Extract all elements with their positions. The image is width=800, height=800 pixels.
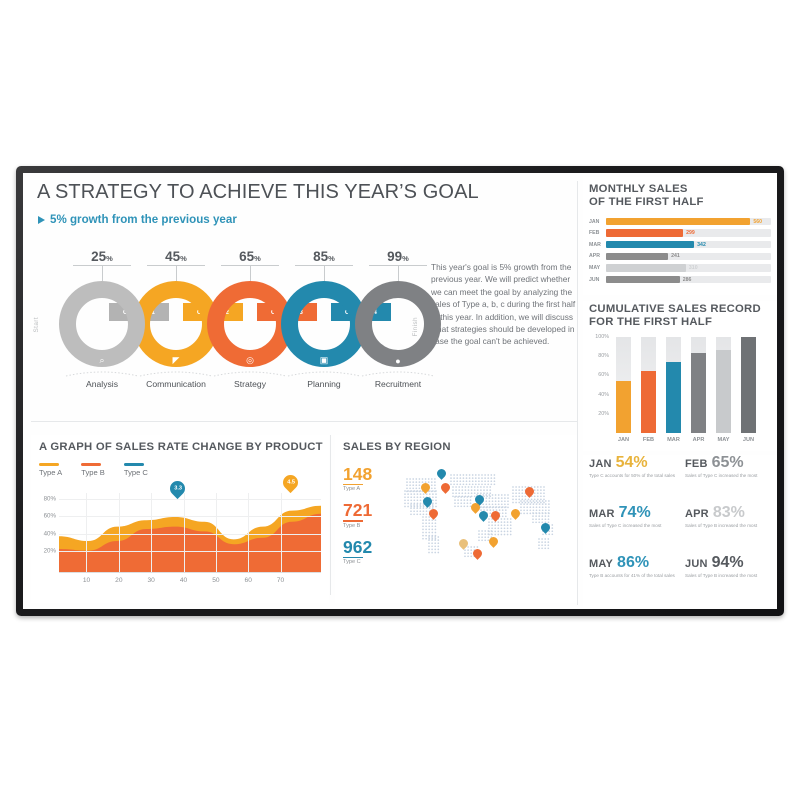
world-map — [393, 461, 571, 589]
month-percent-may: MAY86%Type B accounts for 41% of the tot… — [589, 555, 681, 579]
column-label: JUN — [743, 437, 754, 443]
gridline-v — [184, 493, 185, 573]
month-percent-jan: JAN54%Type C accounts for 50% of the tot… — [589, 455, 681, 479]
monthly-bar-row: APR241 — [589, 252, 771, 261]
region-stat-rule — [343, 557, 363, 558]
monthly-bar-track: 241 — [606, 253, 771, 261]
month-percent-head: JAN54% — [589, 455, 681, 471]
legend-label: Type A — [39, 468, 62, 477]
y-tick-label: 80% — [44, 496, 56, 503]
gridline-h — [59, 499, 321, 500]
sales-rate-chart-panel: A GRAPH OF SALES RATE CHANGE BY PRODUCT … — [31, 435, 329, 603]
column-label: MAY — [718, 437, 730, 443]
region-stat-value: 721 — [343, 501, 389, 519]
gridline-v — [151, 493, 152, 573]
month-percent-value: 54% — [616, 455, 648, 471]
monthly-bar-label: JUN — [589, 277, 606, 283]
divider-horizontal — [31, 421, 577, 422]
screenshot-root: A STRATEGY TO ACHIEVE THIS YEAR’S GOAL 5… — [0, 0, 800, 800]
gridline-h — [59, 551, 321, 552]
percent-value: 45 — [165, 249, 180, 264]
region-stat-rule — [343, 520, 363, 521]
area-chart-legend: Type AType BType C — [39, 463, 148, 477]
column-fill — [741, 337, 756, 433]
monthly-bar-value: 560 — [753, 219, 762, 225]
region-title: SALES BY REGION — [343, 441, 451, 454]
percent-unit: % — [180, 254, 187, 263]
cumulative-y-tick: 60% — [598, 372, 609, 378]
data-marker-pin[interactable]: 4.5 — [279, 472, 300, 493]
y-tick-label: 40% — [44, 530, 56, 537]
month-description: Type B accounts for 41% of the total sal… — [589, 573, 681, 579]
column-label: MAR — [667, 437, 680, 443]
legend-item-type-c: Type C — [124, 463, 148, 477]
month-name: JUN — [685, 558, 708, 570]
monthly-percent-panel: JAN54%Type C accounts for 50% of the tot… — [583, 455, 777, 607]
legend-item-type-a: Type A — [39, 463, 62, 477]
target-icon: ◎ — [242, 352, 259, 369]
cumulative-plot: 100%80%60%40%20%JANFEBMARAPRMAYJUN — [613, 337, 765, 433]
cumulative-sales-title: CUMULATIVE SALES RECORD FOR THE FIRST HA… — [589, 303, 761, 329]
column-label: APR — [693, 437, 705, 443]
monthly-bar-fill — [606, 253, 668, 261]
divider-vertical-2 — [577, 181, 578, 605]
month-name: FEB — [685, 458, 708, 470]
month-name: JAN — [589, 458, 612, 470]
x-tick-label: 70 — [277, 577, 284, 584]
divider-vertical-1 — [330, 435, 331, 595]
region-stat-value: 148 — [343, 465, 389, 483]
legend-swatch — [81, 463, 101, 466]
monthly-bar-row: FEB299 — [589, 229, 771, 238]
region-stat-label: Type C — [343, 559, 389, 565]
monthly-bar-label: JAN — [589, 219, 606, 225]
monthly-bar-row: MAR342 — [589, 240, 771, 249]
cumulative-y-tick: 80% — [598, 353, 609, 359]
monthly-bar-label: FEB — [589, 230, 606, 236]
month-description: Sales of Type B increased the most — [685, 573, 777, 579]
leader-line — [250, 265, 251, 281]
subtitle: 5% growth from the previous year — [50, 213, 237, 226]
monthly-sales-title: MONTHLY SALES OF THE FIRST HALF — [589, 183, 704, 209]
page-title: A STRATEGY TO ACHIEVE THIS YEAR’S GOAL — [37, 181, 479, 204]
subtitle-row: 5% growth from the previous year — [38, 213, 237, 226]
gridline-v — [281, 493, 282, 573]
lightbulb-icon: ● — [390, 352, 407, 369]
legend-label: Type B — [81, 468, 105, 477]
month-percent-jun: JUN94%Sales of Type B increased the most — [685, 555, 777, 579]
region-stat-label: Type A — [343, 486, 389, 492]
legend-label: Type C — [124, 468, 148, 477]
monthly-bar-row: JAN560 — [589, 217, 771, 226]
marker-value: 4.5 — [286, 480, 294, 486]
month-percent-head: FEB65% — [685, 455, 777, 471]
cumulative-y-tick: 100% — [595, 334, 609, 340]
monthly-bar-label: MAR — [589, 242, 606, 248]
percent-unit: % — [328, 254, 335, 263]
region-stats: 148Type A721Type B962Type C — [343, 465, 389, 574]
y-tick-label: 60% — [44, 513, 56, 520]
monitor-bezel: A STRATEGY TO ACHIEVE THIS YEAR’S GOAL 5… — [16, 166, 784, 616]
percent-callout: 99% — [355, 249, 441, 264]
month-percent-value: 65% — [712, 455, 744, 471]
megaphone-icon: ◤ — [168, 352, 185, 369]
monthly-bar-value: 310 — [689, 265, 698, 271]
month-percent-value: 94% — [712, 555, 744, 571]
month-description: Sales of Type C increased the most — [589, 523, 681, 529]
cumulative-y-tick: 20% — [598, 411, 609, 417]
monthly-bar-value: 241 — [671, 253, 680, 259]
start-label: Start — [33, 317, 40, 333]
month-percent-head: JUN94% — [685, 555, 777, 571]
column-fill — [666, 362, 681, 433]
region-stat-label: Type B — [343, 523, 389, 529]
monthly-bar-fill — [606, 264, 686, 272]
x-tick-label: 30 — [148, 577, 155, 584]
month-name: MAR — [589, 508, 615, 520]
legend-swatch — [124, 463, 144, 466]
cumulative-y-tick: 40% — [598, 392, 609, 398]
sales-by-region-panel: SALES BY REGION 148Type A721Type B962Typ… — [335, 435, 577, 603]
column-fill — [641, 371, 656, 433]
column-fill — [616, 381, 631, 433]
x-tick-label: 10 — [83, 577, 90, 584]
x-tick-label: 40 — [180, 577, 187, 584]
column-label: FEB — [643, 437, 654, 443]
monthly-bar-fill — [606, 241, 694, 249]
column-fill — [716, 350, 731, 433]
region-stat-type-b: 721Type B — [343, 501, 389, 528]
body-paragraph: This year's goal is 5% growth from the p… — [431, 261, 576, 348]
x-tick-label: 20 — [115, 577, 122, 584]
month-description: Sales of Type C increased the most — [685, 473, 777, 479]
gridline-h — [59, 534, 321, 535]
month-percent-apr: APR83%Sales of Type B increased the most — [685, 505, 777, 529]
leader-line — [176, 265, 177, 281]
percent-value: 99 — [387, 249, 402, 264]
month-percent-head: MAY86% — [589, 555, 681, 571]
area-chart-plot: 80%60%40%20%102030405060703.34.5 — [59, 493, 321, 573]
leader-line — [102, 265, 103, 281]
monthly-bar-fill — [606, 229, 683, 237]
legend-item-type-b: Type B — [81, 463, 105, 477]
x-tick-label: 50 — [212, 577, 219, 584]
monthly-sales-panel: MONTHLY SALES OF THE FIRST HALF JAN560FE… — [583, 177, 777, 295]
monthly-bar-row: MAY310 — [589, 263, 771, 272]
region-stat-rule — [343, 484, 363, 485]
month-percent-feb: FEB65%Sales of Type C increased the most — [685, 455, 777, 479]
percent-unit: % — [254, 254, 261, 263]
column-label: JAN — [618, 437, 629, 443]
gridline-h — [59, 516, 321, 517]
region-stat-value: 962 — [343, 538, 389, 556]
monthly-bar-track: 560 — [606, 218, 771, 226]
monthly-bar-value: 299 — [686, 230, 695, 236]
gridline-v — [216, 493, 217, 573]
monthly-bar-value: 342 — [697, 242, 706, 248]
legend-swatch — [39, 463, 59, 466]
ring-analysis[interactable]: ⌕ — [59, 281, 145, 367]
ring-recruitment[interactable]: ● — [355, 281, 441, 367]
monitor-icon: ▣ — [316, 352, 333, 369]
month-description: Sales of Type B increased the most — [685, 523, 777, 529]
magnifier-icon: ⌕ — [94, 352, 111, 369]
monthly-bar-track: 310 — [606, 264, 771, 272]
percent-unit: % — [402, 254, 409, 263]
region-stat-type-a: 148Type A — [343, 465, 389, 492]
monthly-bar-value: 286 — [683, 277, 692, 283]
monthly-bar-fill — [606, 218, 750, 226]
month-percent-mar: MAR74%Sales of Type C increased the most — [589, 505, 681, 529]
monthly-bar-track: 299 — [606, 229, 771, 237]
y-tick-label: 20% — [44, 548, 56, 555]
monthly-bar-fill — [606, 276, 680, 284]
percent-value: 65 — [239, 249, 254, 264]
monthly-bar-label: APR — [589, 253, 606, 259]
infographic-screen: A STRATEGY TO ACHIEVE THIS YEAR’S GOAL 5… — [23, 173, 777, 609]
month-name: MAY — [589, 558, 613, 570]
cumulative-sales-panel: CUMULATIVE SALES RECORD FOR THE FIRST HA… — [583, 301, 777, 451]
gridline-v — [86, 493, 87, 573]
marker-value: 3.3 — [174, 486, 182, 492]
monthly-bar-row: JUN286 — [589, 275, 771, 284]
month-description: Type C accounts for 50% of the total sal… — [589, 473, 681, 479]
month-percent-head: APR83% — [685, 505, 777, 521]
month-percent-value: 86% — [617, 555, 649, 571]
month-name: APR — [685, 508, 709, 520]
month-percent-value: 74% — [619, 505, 651, 521]
leader-line — [324, 265, 325, 281]
month-percent-head: MAR74% — [589, 505, 681, 521]
area-chart-title: A GRAPH OF SALES RATE CHANGE BY PRODUCT — [39, 441, 323, 454]
step-label: Recruitment — [343, 379, 453, 389]
leader-line — [398, 265, 399, 281]
x-axis — [59, 572, 321, 573]
gridline-v — [248, 493, 249, 573]
percent-unit: % — [106, 254, 113, 263]
monthly-bar-track: 286 — [606, 276, 771, 284]
x-tick-label: 60 — [245, 577, 252, 584]
column-fill — [691, 353, 706, 433]
triangle-bullet-icon — [38, 216, 45, 224]
monthly-bar-label: MAY — [589, 265, 606, 271]
percent-value: 25 — [91, 249, 106, 264]
gridline-v — [119, 493, 120, 573]
region-stat-type-c: 962Type C — [343, 538, 389, 565]
month-percent-value: 83% — [713, 505, 745, 521]
monthly-bar-track: 342 — [606, 241, 771, 249]
percent-value: 85 — [313, 249, 328, 264]
process-chain: Start Finish Option 01Option 02Option 03… — [31, 253, 421, 403]
